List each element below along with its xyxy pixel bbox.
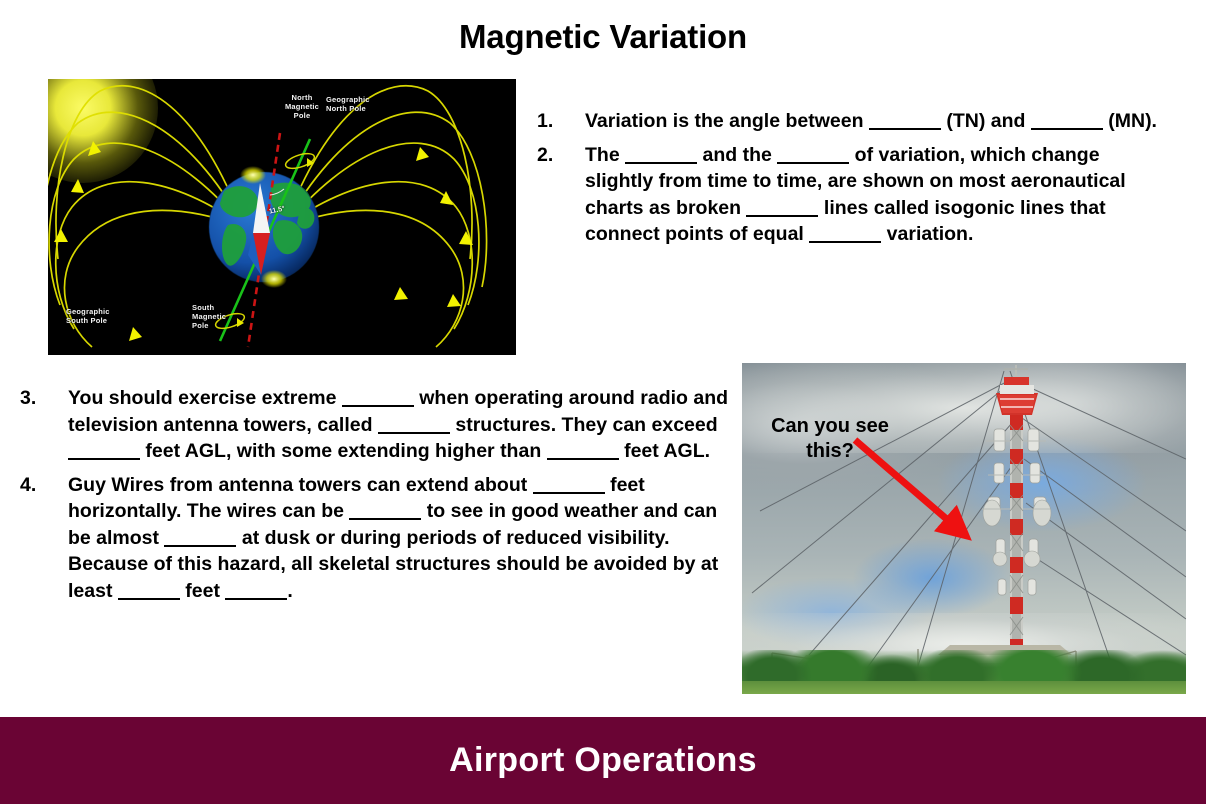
footer-title: Airport Operations — [449, 741, 757, 780]
footer-banner: Airport Operations — [0, 717, 1206, 804]
fill-in-blank[interactable] — [378, 432, 450, 434]
question-number: 1. — [537, 108, 571, 135]
fill-in-blank[interactable] — [164, 545, 236, 547]
question-text: You should exercise extreme when operati… — [68, 385, 732, 465]
question-number: 3. — [20, 385, 54, 412]
fill-in-blank[interactable] — [869, 128, 941, 130]
fill-in-blank[interactable] — [809, 241, 881, 243]
fill-in-blank[interactable] — [547, 458, 619, 460]
fill-in-blank[interactable] — [1031, 128, 1103, 130]
fill-in-blank[interactable] — [746, 215, 818, 217]
question-text: The and the of variation, which change s… — [585, 142, 1173, 248]
question-list-right: 1.Variation is the angle between (TN) an… — [537, 108, 1173, 255]
fill-in-blank[interactable] — [349, 518, 421, 520]
fill-in-blank[interactable] — [118, 598, 180, 600]
fill-in-blank[interactable] — [625, 162, 697, 164]
question-left-item: 4.Guy Wires from antenna towers can exte… — [20, 472, 732, 605]
question-text: Variation is the angle between (TN) and … — [585, 108, 1173, 135]
question-right-item: 1.Variation is the angle between (TN) an… — [537, 108, 1173, 135]
question-right-item: 2.The and the of variation, which change… — [537, 142, 1173, 248]
label-geographic-north-pole: Geographic North Pole — [326, 95, 398, 113]
page-title: Magnetic Variation — [0, 18, 1206, 56]
label-north-magnetic-pole: North Magnetic Pole — [272, 93, 332, 120]
earth-magnetic-field-diagram: North Magnetic Pole Geographic North Pol… — [48, 79, 516, 355]
label-geographic-south-pole: Geographic South Pole — [66, 307, 136, 325]
fill-in-blank[interactable] — [68, 458, 140, 460]
question-number: 4. — [20, 472, 54, 499]
question-left-item: 3.You should exercise extreme when opera… — [20, 385, 732, 465]
fill-in-blank[interactable] — [225, 598, 287, 600]
fill-in-blank[interactable] — [342, 405, 414, 407]
red-pointer-arrow — [742, 363, 1186, 694]
fill-in-blank[interactable] — [777, 162, 849, 164]
fill-in-blank[interactable] — [533, 492, 605, 494]
question-number: 2. — [537, 142, 571, 169]
question-text: Guy Wires from antenna towers can extend… — [68, 472, 732, 605]
question-list-left: 3.You should exercise extreme when opera… — [20, 385, 732, 611]
label-south-magnetic-pole: South Magnetic Pole — [192, 303, 244, 330]
